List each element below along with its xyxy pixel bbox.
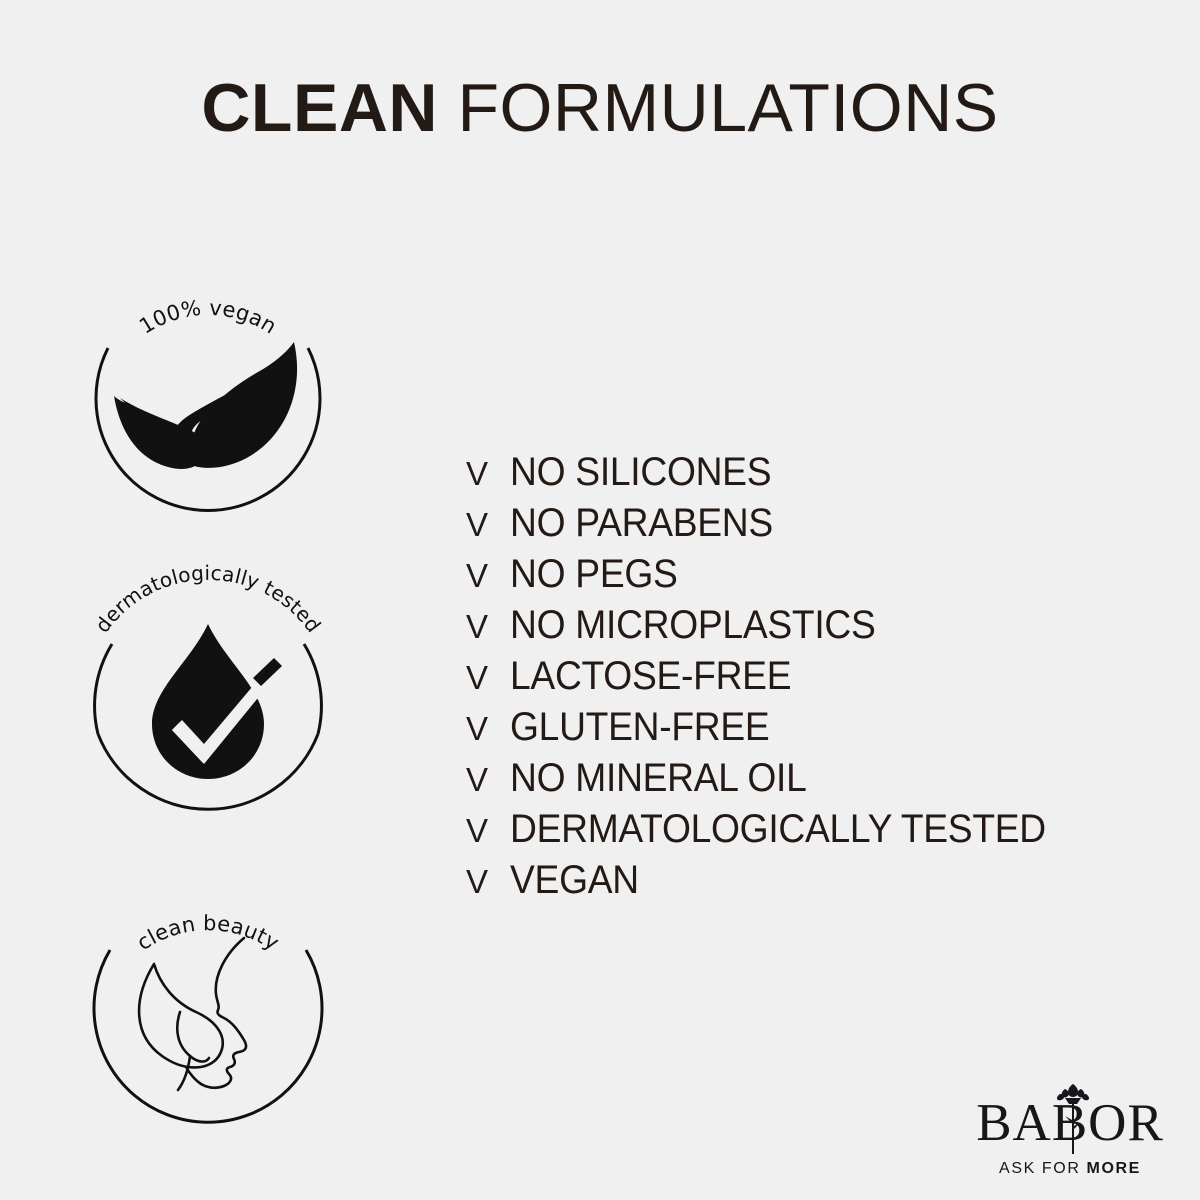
badge-clean-arc-textpath: clean beauty [133, 911, 284, 955]
brand-wordmark-wrap: BABOR [970, 1088, 1170, 1158]
list-item: V VEGAN [466, 860, 1166, 911]
list-item-label: DERMATOLOGICALLY TESTED [510, 809, 1046, 849]
list-item: V NO PARABENS [466, 503, 1166, 554]
page-title: CLEAN FORMULATIONS [0, 74, 1200, 142]
rose-stem-icon [1053, 1080, 1093, 1158]
face-profile-leaf-icon [139, 938, 246, 1090]
poster-canvas: CLEAN FORMULATIONS 100% vegan [0, 0, 1200, 1200]
list-item-label: GLUTEN-FREE [510, 707, 769, 747]
check-icon: V [466, 508, 510, 541]
droplet-checkmark-icon [152, 624, 282, 779]
brand-logo: BABOR ASK FOR MORE [970, 1088, 1170, 1178]
check-icon: V [466, 559, 510, 592]
badge-derm-ring-right [304, 644, 321, 734]
list-item-label: NO MINERAL OIL [510, 758, 807, 798]
badge-column: 100% vegan [68, 256, 368, 1162]
badge-clean-arc-label: clean beauty [133, 911, 284, 955]
list-item: V LACTOSE-FREE [466, 656, 1166, 707]
claims-checklist: V NO SILICONES V NO PARABENS V NO PEGS V… [466, 452, 1166, 911]
list-item-label: NO SILICONES [510, 452, 771, 492]
list-item: V NO MICROPLASTICS [466, 605, 1166, 656]
list-item-label: VEGAN [510, 860, 639, 900]
list-item: V NO SILICONES [466, 452, 1166, 503]
check-icon: V [466, 865, 510, 898]
badge-clean-ring [94, 950, 322, 1122]
badge-vegan-arc-label: 100% vegan [135, 296, 281, 339]
list-item-label: NO PARABENS [510, 503, 773, 543]
badge-dermatologically-tested: dermatologically tested [68, 558, 348, 838]
brand-tagline: ASK FOR MORE [970, 1160, 1170, 1178]
brand-tagline-light: ASK FOR [999, 1160, 1080, 1177]
check-icon: V [466, 763, 510, 796]
check-icon: V [466, 661, 510, 694]
badge-vegan: 100% vegan [68, 256, 348, 536]
badge-derm-ring-left [95, 644, 112, 734]
check-icon: V [466, 457, 510, 490]
page-title-regular: FORMULATIONS [457, 70, 998, 146]
badge-vegan-arc-textpath: 100% vegan [135, 296, 281, 339]
list-item: V DERMATOLOGICALLY TESTED [466, 809, 1166, 860]
check-icon: V [466, 712, 510, 745]
list-item: V NO PEGS [466, 554, 1166, 605]
list-item-label: NO PEGS [510, 554, 678, 594]
page-title-bold: CLEAN [201, 70, 438, 146]
check-icon: V [466, 814, 510, 847]
brand-tagline-bold: MORE [1087, 1160, 1141, 1177]
list-item: V NO MINERAL OIL [466, 758, 1166, 809]
badge-clean-beauty: clean beauty [68, 860, 348, 1140]
list-item-label: LACTOSE-FREE [510, 656, 791, 696]
list-item: V GLUTEN-FREE [466, 707, 1166, 758]
list-item-label: NO MICROPLASTICS [510, 605, 876, 645]
two-leaves-icon [114, 342, 297, 469]
check-icon: V [466, 610, 510, 643]
